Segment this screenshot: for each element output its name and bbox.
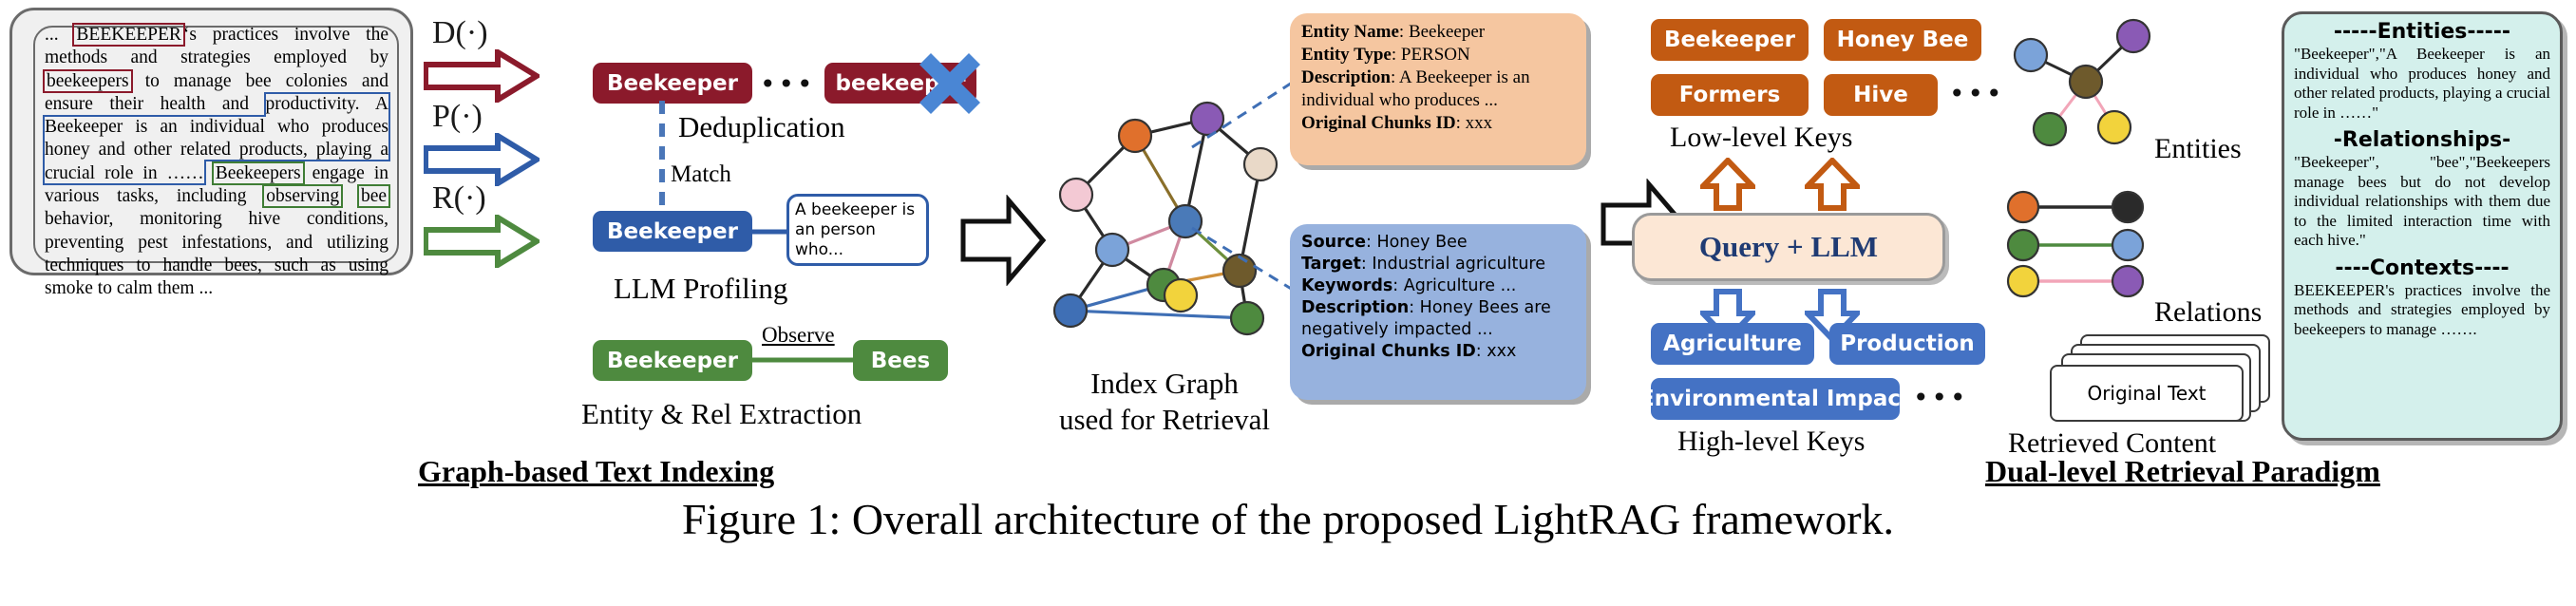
operator-label-dedup: D(·) xyxy=(432,15,488,51)
entity-value-name: Beekeeper xyxy=(1409,22,1485,42)
high-level-keys-ellipsis: ••• xyxy=(1913,382,1969,413)
relation-row-source: Source: Honey Bee xyxy=(1301,232,1575,254)
entity-key-name: Entity Name xyxy=(1301,22,1399,42)
dedup-caption: Deduplication xyxy=(678,110,845,144)
relation-row-chunks: Original Chunks ID: xxx xyxy=(1301,341,1575,363)
relation-value-source: Honey Bee xyxy=(1376,233,1467,252)
arrow-up-low-level-left-icon xyxy=(1700,158,1755,211)
operator-label-profile: P(·) xyxy=(432,99,483,135)
entity-row-description: Description: A Beekeeper is an individua… xyxy=(1301,66,1575,112)
retrieved-card-label: Original Text xyxy=(2087,382,2206,405)
relation-key-source: Source xyxy=(1301,233,1366,252)
relation-panel: Source: Honey Bee Target: Industrial agr… xyxy=(1290,224,1586,400)
output-body-relationships: "Beekeeper", "bee","Beekeepers manage be… xyxy=(2294,153,2550,251)
source-document-text: ... BEEKEEPER‘s practices involve the me… xyxy=(45,24,388,301)
doc-seg-6 xyxy=(204,163,214,183)
relation-key-description: Description xyxy=(1301,298,1409,317)
doc-highlight-beekeeper-caps: BEEKEEPER xyxy=(74,25,183,45)
dedup-chip-left[interactable]: Beekeeper xyxy=(593,63,752,104)
entity-key-type: Entity Type xyxy=(1301,45,1392,65)
arrow-up-low-level-right-icon xyxy=(1805,158,1860,211)
profiling-caption: LLM Profiling xyxy=(614,272,787,306)
relation-row-target: Target: Industrial agriculture xyxy=(1301,254,1575,275)
relation-value-keywords: Agriculture ... xyxy=(1404,276,1517,295)
arrow-extract-icon xyxy=(424,215,540,268)
entities-mini-graph xyxy=(1993,15,2173,167)
high-level-key-2[interactable]: Environmental Impact xyxy=(1651,378,1900,420)
high-level-keys-label: High-level Keys xyxy=(1677,426,1865,458)
figure-caption: Figure 1: Overall architecture of the pr… xyxy=(0,494,2576,544)
low-level-key-3[interactable]: Hive xyxy=(1824,74,1938,116)
doc-highlight-observing: observing xyxy=(264,186,341,206)
output-body-contexts: BEEKEEPER's practices involve the method… xyxy=(2294,281,2550,340)
entities-legend-label: Entities xyxy=(2154,133,2242,165)
high-level-key-0[interactable]: Agriculture xyxy=(1651,323,1814,365)
output-body-entities: "Beekeeper","A Beekeeper is an individua… xyxy=(2294,45,2550,123)
output-heading-entities: -----Entities----- xyxy=(2294,20,2550,45)
section-label-indexing: Graph-based Text Indexing xyxy=(418,454,774,489)
entity-panel: Entity Name: Beekeeper Entity Type: PERS… xyxy=(1290,13,1586,165)
arrow-dedup-icon xyxy=(424,49,540,103)
low-level-key-2[interactable]: Formers xyxy=(1651,74,1809,116)
entity-key-description: Description xyxy=(1301,67,1391,87)
match-label: Match xyxy=(671,161,731,188)
entity-key-chunks: Original Chunks ID xyxy=(1301,113,1456,133)
profile-description-box: A beekeeper is an person who... xyxy=(786,194,929,266)
output-context-panel: -----Entities----- "Beekeeper","A Beekee… xyxy=(2282,11,2563,441)
query-llm-label: Query + LLM xyxy=(1699,230,1878,264)
doc-seg-10 xyxy=(341,186,359,206)
query-llm-box[interactable]: Query + LLM xyxy=(1632,213,1945,281)
extract-chip-right[interactable]: Bees xyxy=(853,340,948,381)
retrieved-card-front[interactable]: Original Text xyxy=(2050,365,2244,422)
extract-chip-left[interactable]: Beekeeper xyxy=(593,340,752,381)
dedup-ellipsis: ••• xyxy=(760,68,816,100)
output-heading-relationships: -Relationships- xyxy=(2294,128,2550,153)
entity-row-chunks: Original Chunks ID: xxx xyxy=(1301,112,1575,135)
extraction-caption: Entity & Rel Extraction xyxy=(581,397,862,431)
index-graph-caption-line1: Index Graph xyxy=(1051,367,1279,401)
low-level-key-0[interactable]: Beekeeper xyxy=(1651,19,1809,61)
entity-row-name: Entity Name: Beekeeper xyxy=(1301,21,1575,44)
figure-canvas: ... BEEKEEPER‘s practices involve the me… xyxy=(0,0,2576,606)
doc-highlight-bee: bee xyxy=(359,186,388,206)
high-level-key-1[interactable]: Production xyxy=(1829,323,1985,365)
relation-key-target: Target xyxy=(1301,255,1361,274)
source-document-panel: ... BEEKEEPER‘s practices involve the me… xyxy=(9,8,413,275)
relation-key-chunks: Original Chunks ID xyxy=(1301,342,1476,361)
match-dashed-connector xyxy=(655,101,669,224)
extract-edge-connector xyxy=(750,354,857,366)
relations-legend-label: Relations xyxy=(2154,296,2262,329)
entity-value-chunks: xxx xyxy=(1466,113,1493,133)
arrow-profile-icon xyxy=(424,133,540,186)
operator-label-extract: R(·) xyxy=(432,180,486,217)
section-label-retrieval: Dual-level Retrieval Paradigm xyxy=(1985,454,2380,489)
entity-value-type: PERSON xyxy=(1401,45,1470,65)
extract-edge-label: Observe xyxy=(762,323,835,348)
doc-seg-0: ... xyxy=(45,25,74,45)
doc-highlight-beekeepers: beekeepers xyxy=(45,71,131,91)
relation-row-keywords: Keywords: Agriculture ... xyxy=(1301,275,1575,297)
low-level-keys-label: Low-level Keys xyxy=(1670,122,1852,154)
output-heading-contexts: ----Contexts---- xyxy=(2294,256,2550,281)
doc-seg-12: behavior, monitoring hive conditions, pr… xyxy=(45,209,388,298)
relation-value-target: Industrial agriculture xyxy=(1372,255,1545,274)
low-level-key-1[interactable]: Honey Bee xyxy=(1824,19,1981,61)
index-graph-caption-line2: used for Retrieval xyxy=(1032,403,1297,437)
relation-value-chunks: xxx xyxy=(1487,342,1516,361)
cross-out-icon xyxy=(914,47,986,120)
doc-highlight-beekeepers-2: Beekeepers xyxy=(214,163,303,183)
relations-mini-graph xyxy=(2002,186,2183,310)
relation-key-keywords: Keywords xyxy=(1301,276,1392,295)
relation-row-description: Description: Honey Bees are negatively i… xyxy=(1301,297,1575,341)
entity-row-type: Entity Type: PERSON xyxy=(1301,44,1575,66)
profile-chip[interactable]: Beekeeper xyxy=(593,211,752,252)
